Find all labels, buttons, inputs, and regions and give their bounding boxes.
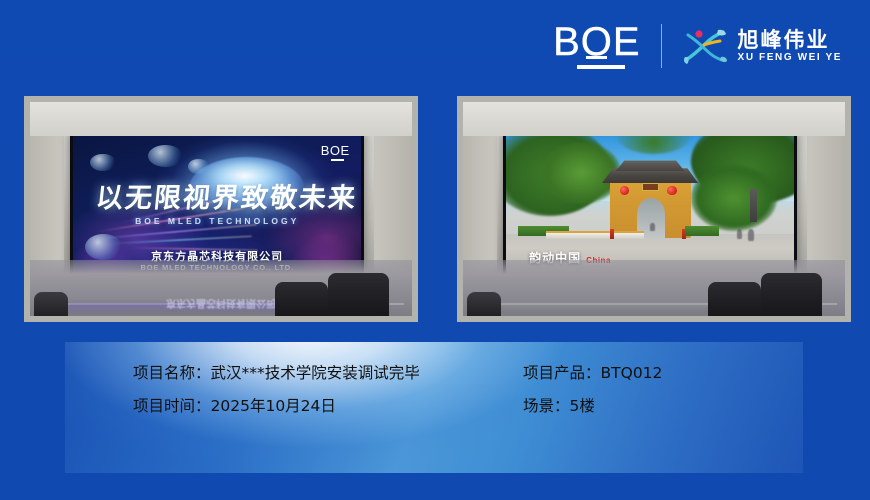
chair-2: [275, 282, 328, 321]
xufeng-logo: 旭峰伟业 XU FENG WEI YE: [682, 26, 842, 66]
hedge-right: [685, 226, 720, 236]
chair-4: [761, 273, 822, 320]
label-scene: 场景：: [523, 397, 570, 415]
screen-slogan-en: BOE MLED TECHNOLOGY: [73, 216, 361, 226]
bubble-jelly-3: [188, 159, 208, 174]
info-row-project-name: 项目名称：武汉***技术学院安装调试完毕: [133, 364, 523, 383]
label-project-date: 项目时间：: [133, 397, 211, 415]
red-post-left: [610, 229, 615, 239]
xufeng-name-en: XU FENG WEI YE: [738, 53, 842, 63]
boe-underline-icon: [577, 65, 625, 69]
person-2: [748, 229, 754, 241]
red-post-right: [682, 229, 687, 239]
project-info-panel: 项目名称：武汉***技术学院安装调试完毕 项目产品：BTQ012 项目时间：20…: [65, 342, 803, 473]
value-project-product: BTQ012: [601, 364, 663, 382]
person-3: [650, 223, 655, 230]
meeting-room-interior-2: 韵动中国 China: [463, 102, 845, 316]
lantern-left: [620, 186, 629, 195]
temple-name-plaque: [642, 183, 659, 190]
info-row-scene: 场景：5楼: [523, 397, 662, 416]
value-project-name: 武汉***技术学院安装调试完毕: [211, 364, 420, 382]
boe-logo: BOE: [553, 23, 640, 70]
person-1: [737, 229, 743, 239]
tree-4: [691, 165, 777, 230]
label-project-name: 项目名称：: [133, 364, 211, 382]
screen-slogan-cn: 以无限视界致敬未来: [95, 185, 346, 212]
xufeng-text-block: 旭峰伟业 XU FENG WEI YE: [738, 29, 842, 63]
header-logo-bar: BOE 旭峰伟业 XU FENG WEI YE: [553, 20, 842, 72]
chair-5: [708, 282, 761, 321]
photo-right: 韵动中国 China: [457, 96, 851, 322]
screen-boe-logo: BOE: [321, 143, 350, 161]
boe-o-underline-icon: [586, 56, 607, 59]
chair-1: [328, 273, 389, 320]
label-project-product: 项目产品：: [523, 364, 601, 382]
chair-6: [467, 292, 501, 320]
chair-3: [34, 292, 68, 320]
xufeng-name-cn: 旭峰伟业: [738, 29, 842, 51]
xufeng-bird-mark-icon: [682, 26, 728, 66]
info-row-project-date: 项目时间：2025年10月24日: [133, 397, 523, 416]
value-scene: 5楼: [570, 397, 595, 415]
lantern-right: [667, 186, 676, 195]
planter-row: [546, 231, 644, 240]
project-info-grid: 项目名称：武汉***技术学院安装调试完毕 项目产品：BTQ012 项目时间：20…: [133, 364, 662, 415]
value-project-date: 2025年10月24日: [211, 397, 336, 415]
photo-left: BOE 以无限视界致敬未来 BOE MLED TECHNOLOGY 京东方晶芯科…: [24, 96, 418, 322]
sign-post: [750, 189, 756, 222]
bubble-jelly-2: [148, 145, 183, 167]
temple-gate-scene: 韵动中国 China: [506, 133, 794, 281]
meeting-room-interior: BOE 以无限视界致敬未来 BOE MLED TECHNOLOGY 京东方晶芯科…: [30, 102, 412, 316]
info-row-project-product: 项目产品：BTQ012: [523, 364, 662, 383]
logo-divider: [661, 24, 662, 68]
